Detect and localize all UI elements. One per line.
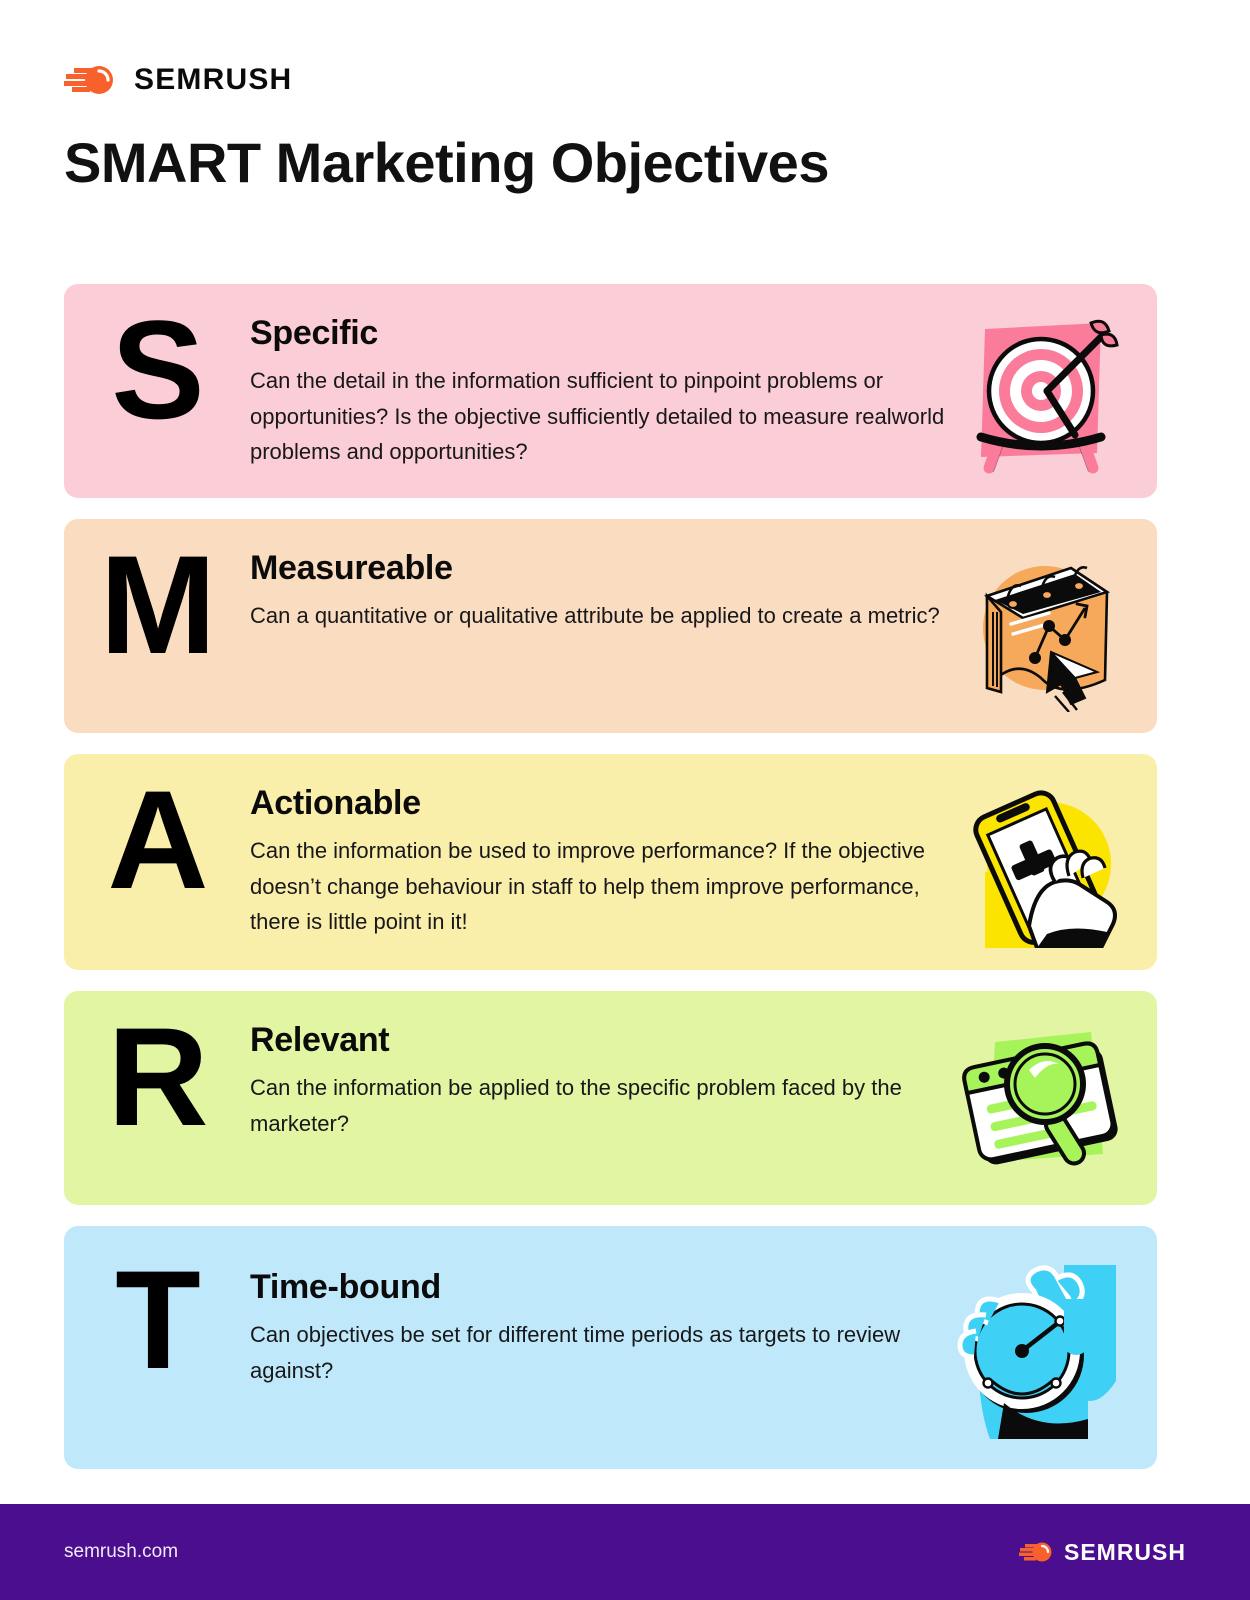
card-letter-r: R (64, 991, 250, 1147)
smart-card-specific: S Specific Can the detail in the informa… (64, 284, 1157, 498)
smart-card-relevant: R Relevant Can the information be applie… (64, 991, 1157, 1205)
card-letter-a: A (64, 754, 250, 910)
card-body-specific: Specific Can the detail in the informati… (250, 284, 1157, 470)
card-letter-s: S (64, 284, 250, 440)
footer-website-url[interactable]: semrush.com (64, 1541, 178, 1563)
card-body-time-bound: Time-bound Can objectives be set for dif… (250, 1226, 1157, 1388)
card-letter-m: M (64, 519, 250, 675)
smart-card-actionable: A Actionable Can the information be used… (64, 754, 1157, 970)
card-heading-actionable: Actionable (250, 784, 1137, 823)
page-title: SMART Marketing Objectives (64, 134, 829, 193)
card-heading-measureable: Measureable (250, 549, 1137, 588)
footer-brand: SEMRUSH (1019, 1539, 1186, 1565)
card-body-actionable: Actionable Can the information be used t… (250, 754, 1157, 940)
card-description-relevant: Can the information be applied to the sp… (250, 1070, 950, 1141)
card-body-relevant: Relevant Can the information be applied … (250, 991, 1157, 1141)
brand-wordmark: SEMRUSH (134, 65, 292, 95)
card-heading-time-bound: Time-bound (250, 1268, 1137, 1307)
footer-brand-wordmark: SEMRUSH (1064, 1541, 1186, 1564)
footer-bar: semrush.com SEMRUSH (0, 1504, 1250, 1600)
card-description-measureable: Can a quantitative or qualitative attrib… (250, 598, 950, 634)
brand-header: SEMRUSH (64, 60, 292, 100)
card-description-time-bound: Can objectives be set for different time… (250, 1317, 950, 1388)
card-heading-specific: Specific (250, 314, 1137, 353)
smart-card-list: S Specific Can the detail in the informa… (64, 284, 1157, 1490)
infographic-page: SEMRUSH SMART Marketing Objectives S Spe… (0, 0, 1250, 1600)
semrush-comet-icon (1019, 1539, 1055, 1565)
semrush-comet-icon (64, 60, 120, 100)
card-description-specific: Can the detail in the information suffic… (250, 363, 950, 470)
smart-card-measureable: M Measureable Can a quantitative or qual… (64, 519, 1157, 733)
card-heading-relevant: Relevant (250, 1021, 1137, 1060)
card-letter-t: T (64, 1226, 250, 1390)
card-description-actionable: Can the information be used to improve p… (250, 833, 950, 940)
smart-card-time-bound: T Time-bound Can objectives be set for d… (64, 1226, 1157, 1469)
card-body-measureable: Measureable Can a quantitative or qualit… (250, 519, 1157, 634)
